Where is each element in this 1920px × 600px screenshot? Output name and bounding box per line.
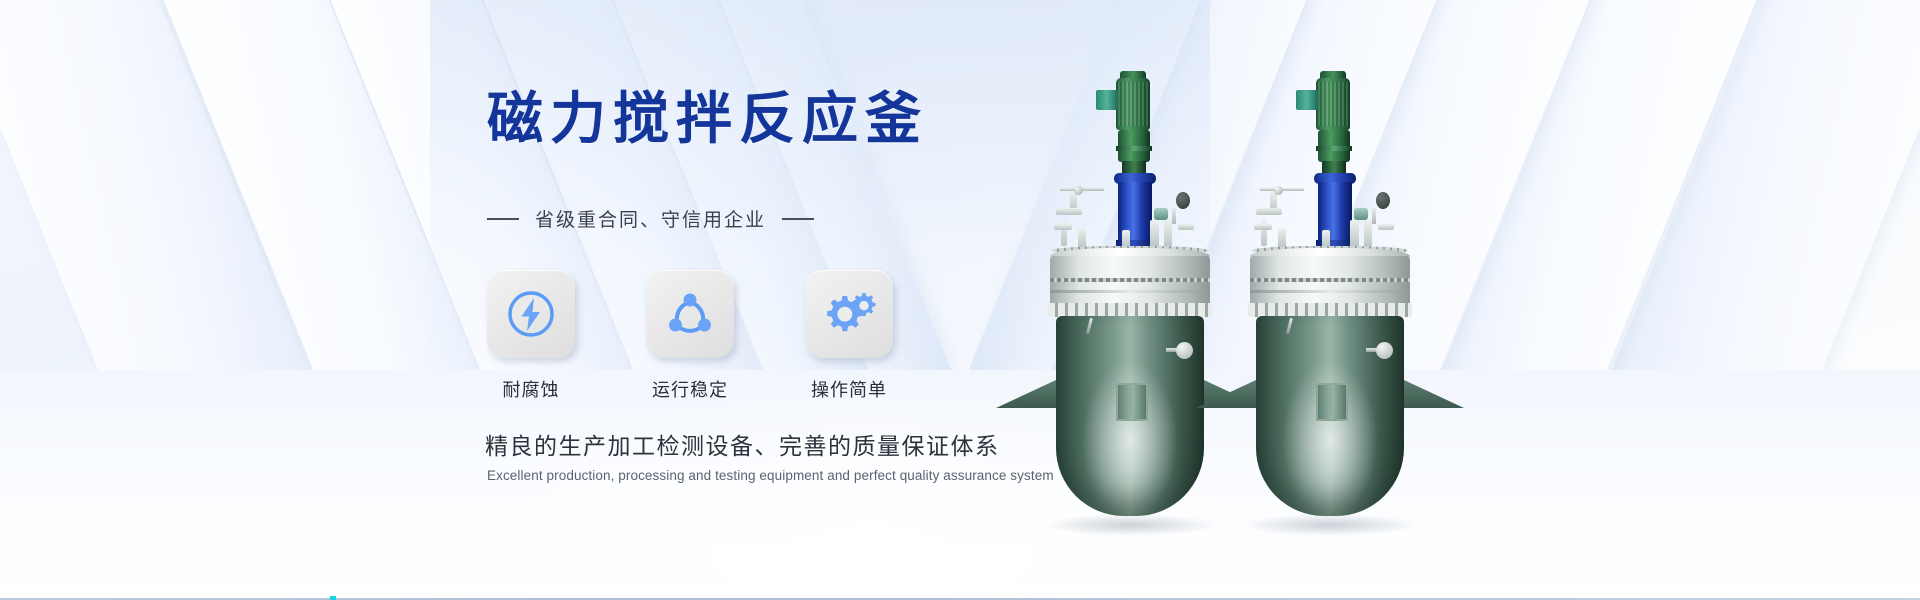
subtitle-text: 省级重合同、守信用企业 (535, 205, 766, 232)
gauge-stem (1172, 208, 1176, 224)
gauge-stem (1372, 208, 1376, 224)
valve-handwheel-a (1074, 186, 1083, 195)
motor-terminal-box (1096, 90, 1118, 110)
feature-item-corrosion-resistant: 耐腐蚀 (487, 270, 575, 402)
feature-label: 操作简单 (811, 376, 887, 402)
reactor-ground-shadow (1244, 514, 1416, 536)
product-image-group (1030, 60, 1450, 530)
vessel-head-seam (1250, 278, 1410, 282)
reactor-unit-2 (1230, 60, 1430, 530)
vessel-head-seam-2 (1250, 290, 1410, 293)
feature-tile (646, 270, 734, 358)
motor-terminal-box (1296, 90, 1318, 110)
nozzle-e (1078, 228, 1086, 248)
page-title: 磁力搅拌反应釜 (487, 92, 928, 148)
carousel-progress-indicator[interactable] (330, 596, 336, 600)
gearbox-band (1316, 146, 1352, 151)
nozzle-h (1178, 224, 1194, 230)
product-hero-banner: 磁力搅拌反应釜 省级重合同、守信用企业 耐腐蚀 (0, 0, 1920, 600)
nozzle-d (1054, 224, 1072, 230)
share-network-nodes-icon (663, 287, 717, 341)
reactor-ground-shadow (1044, 514, 1216, 536)
tagline-english: Excellent production, processing and tes… (487, 468, 1054, 483)
feature-label: 耐腐蚀 (503, 376, 560, 402)
support-leg-left (996, 380, 1056, 408)
feature-tile (487, 270, 575, 358)
nozzle-f (1350, 220, 1359, 248)
nozzle-b (1056, 208, 1082, 215)
lightning-bolt-circle-icon (504, 287, 558, 341)
pressure-gauge (1376, 192, 1390, 209)
nozzle-d (1254, 224, 1272, 230)
feature-list: 耐腐蚀 运行稳定 (487, 270, 893, 402)
teal-valve-a (1354, 208, 1368, 220)
support-leg-right (1404, 380, 1464, 408)
vessel-main-flange (1048, 303, 1212, 317)
motor-cooling-fins (1114, 82, 1152, 126)
nozzle-b (1256, 208, 1282, 215)
nozzle-e (1278, 228, 1286, 248)
side-nozzle-flange (1376, 342, 1393, 359)
gearbox-band (1116, 146, 1152, 151)
side-nozzle-flange (1176, 342, 1193, 359)
feature-tile (805, 270, 893, 358)
vessel-nameplate (1116, 383, 1148, 421)
vessel-head-seam (1050, 278, 1210, 282)
subtitle-row: 省级重合同、守信用企业 (487, 205, 814, 232)
vessel-head-seam-2 (1050, 290, 1210, 293)
nozzle-f (1150, 220, 1159, 248)
valve-handwheel-a (1274, 186, 1283, 195)
nozzle-g (1364, 220, 1372, 248)
nozzle-h (1378, 224, 1394, 230)
motor-cooling-fins (1314, 82, 1352, 126)
pressure-gauge (1176, 192, 1190, 209)
reactor-unit-1 (1030, 60, 1230, 530)
vessel-nameplate (1316, 383, 1348, 421)
feature-item-simple-operation: 操作简单 (805, 270, 893, 402)
tagline-chinese: 精良的生产加工检测设备、完善的质量保证体系 (485, 427, 1000, 461)
dash-right-icon (782, 218, 814, 220)
dash-left-icon (487, 218, 519, 220)
nozzle-g (1164, 220, 1172, 248)
vessel-main-flange (1248, 303, 1412, 317)
feature-item-stable-operation: 运行稳定 (646, 270, 734, 402)
banner-content: 磁力搅拌反应釜 省级重合同、守信用企业 耐腐蚀 (0, 0, 1920, 600)
gears-icon (821, 287, 877, 341)
feature-label: 运行稳定 (652, 376, 728, 402)
teal-valve-a (1154, 208, 1168, 220)
